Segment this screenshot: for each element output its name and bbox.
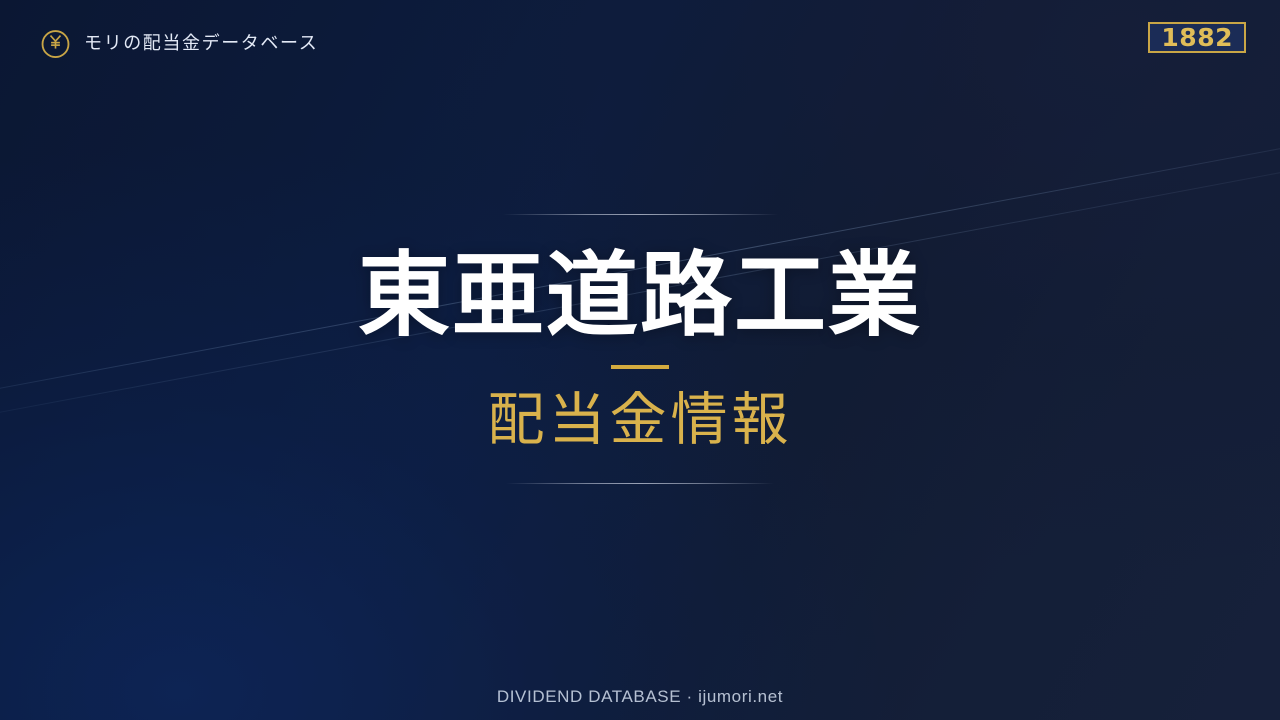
slide-footer: DIVIDEND DATABASE · ijumori.net xyxy=(0,687,1280,707)
hero-subtitle: 配当金情報 xyxy=(488,389,793,452)
yen-circle-icon xyxy=(40,28,71,59)
hero-block: 東亜道路工業 配当金情報 xyxy=(0,0,1280,720)
title-slide: モリの配当金データベース 1882 東亜道路工業 配当金情報 DIVIDEND … xyxy=(0,0,1280,720)
hero-top-rule xyxy=(503,214,778,215)
footer-attribution: DIVIDEND DATABASE · ijumori.net xyxy=(497,687,783,707)
hero-bottom-rule xyxy=(506,483,774,484)
slide-header: モリの配当金データベース 1882 xyxy=(0,0,1280,88)
gold-dash-divider xyxy=(611,365,669,369)
brand-name-label: モリの配当金データベース xyxy=(84,35,318,53)
ticker-code-badge[interactable]: 1882 xyxy=(1148,22,1246,53)
brand-lockup[interactable]: モリの配当金データベース xyxy=(40,28,318,59)
company-name-title: 東亜道路工業 xyxy=(358,249,922,343)
